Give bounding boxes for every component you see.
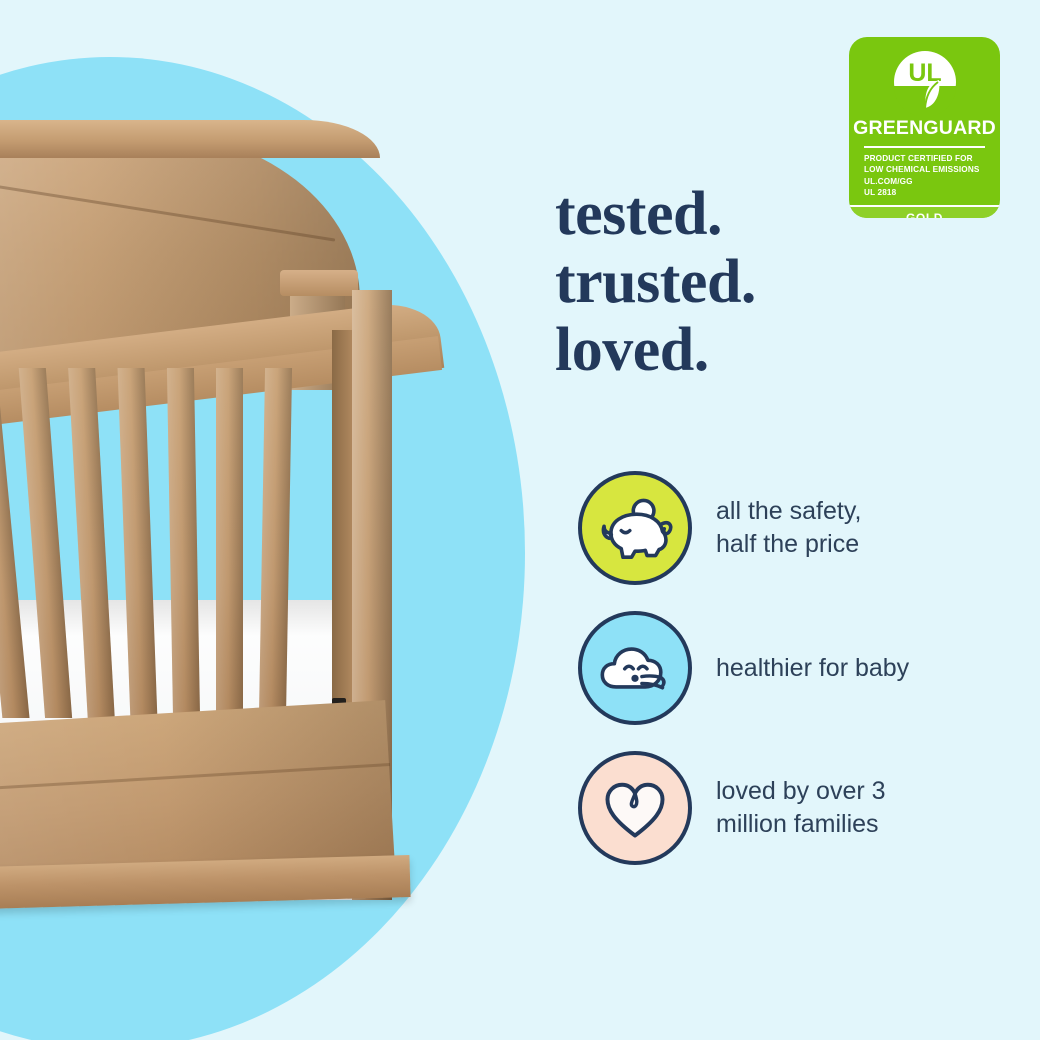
greenguard-gold-badge: UL GREENGUARD PRODUCT CERTIFIED FOR LOW … — [849, 37, 1000, 218]
promo-graphic: UL GREENGUARD PRODUCT CERTIFIED FOR LOW … — [0, 0, 1040, 1040]
feature-list: all the safety, half the price healthier… — [578, 458, 998, 878]
crib-slat — [167, 368, 201, 718]
ul-leaf-emblem: UL — [891, 48, 959, 116]
feature-label-healthier: healthier for baby — [716, 652, 909, 685]
badge-detail-lines: PRODUCT CERTIFIED FOR LOW CHEMICAL EMISS… — [849, 153, 1000, 199]
feature-item-healthier: healthier for baby — [578, 598, 998, 738]
crib-slat-group — [0, 368, 360, 718]
cloud-blowing-icon — [578, 611, 692, 725]
badge-line-2: LOW CHEMICAL EMISSIONS — [864, 164, 1000, 175]
feature-label-safety: all the safety, half the price — [716, 495, 861, 561]
feature-label-loved: loved by over 3 million families — [716, 775, 886, 841]
crib-headboard-post-cap — [280, 270, 358, 296]
feature-item-safety: all the safety, half the price — [578, 458, 998, 598]
crib-slat — [216, 368, 243, 718]
crib-slat — [117, 368, 158, 718]
headline-line-1: tested. — [555, 180, 756, 248]
badge-line-4: UL 2818 — [864, 187, 1000, 198]
feature-item-loved: loved by over 3 million families — [578, 738, 998, 878]
badge-line-3: UL.COM/GG — [864, 176, 1000, 187]
headline-line-3: loved. — [555, 316, 756, 384]
badge-line-1: PRODUCT CERTIFIED FOR — [864, 153, 1000, 164]
crib-slat — [18, 368, 73, 718]
feature-label-loved-line2: million families — [716, 808, 886, 841]
crib-headboard-rail — [0, 120, 380, 158]
badge-tier: GOLD — [849, 207, 1000, 218]
heart-icon — [578, 751, 692, 865]
piggy-bank-icon — [578, 471, 692, 585]
feature-label-safety-line1: all the safety, — [716, 495, 861, 528]
badge-title: GREENGUARD — [849, 117, 1000, 140]
convertible-crib-photo — [0, 130, 470, 920]
feature-label-safety-line2: half the price — [716, 528, 861, 561]
feature-label-healthier-line1: healthier for baby — [716, 652, 909, 685]
crib-slat — [259, 368, 293, 718]
headline-line-2: trusted. — [555, 248, 756, 316]
feature-label-loved-line1: loved by over 3 — [716, 775, 886, 808]
crib-slat — [67, 368, 115, 718]
badge-divider — [864, 146, 985, 148]
headline: tested. trusted. loved. — [555, 180, 756, 384]
